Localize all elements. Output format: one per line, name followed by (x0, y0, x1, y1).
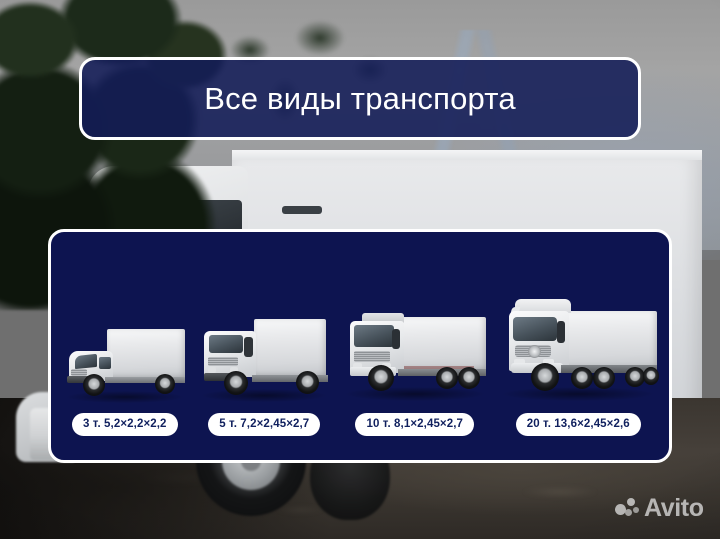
vehicle-label-10t: 10 т. 8,1×2,45×2,7 (355, 413, 474, 436)
medium-box-truck-icon (196, 313, 332, 403)
page-title: Все виды транспорта (204, 81, 516, 117)
title-banner: Все виды транспорта (79, 57, 641, 140)
vehicle-item-20t[interactable]: 20 т. 13,6×2,45×2,6 (497, 295, 659, 436)
vehicle-label-5t: 5 т. 7,2×2,45×2,7 (208, 413, 320, 436)
semi-trailer-truck-icon (497, 295, 659, 403)
background-truck-roofline (232, 150, 702, 160)
screenshot-canvas: Все виды транспорта 3 т. 5,2×2,2×2 (0, 0, 720, 539)
avito-dots-logo-icon (615, 498, 639, 520)
vehicle-types-panel: 3 т. 5,2×2,2×2,2 5 т (48, 229, 672, 463)
background-truck-handle (282, 206, 322, 214)
gazelle-box-truck-icon (61, 319, 189, 403)
heavy-box-truck-icon (340, 303, 490, 403)
vehicle-item-10t[interactable]: 10 т. 8,1×2,45×2,7 (340, 303, 490, 436)
vehicle-label-3t: 3 т. 5,2×2,2×2,2 (72, 413, 178, 436)
vehicle-item-5t[interactable]: 5 т. 7,2×2,45×2,7 (196, 313, 332, 436)
vehicle-list: 3 т. 5,2×2,2×2,2 5 т (51, 232, 669, 460)
avito-watermark: Avito (615, 496, 704, 521)
vehicle-item-3t[interactable]: 3 т. 5,2×2,2×2,2 (61, 319, 189, 436)
vehicle-label-20t: 20 т. 13,6×2,45×2,6 (516, 413, 641, 436)
avito-wordmark: Avito (644, 496, 704, 521)
